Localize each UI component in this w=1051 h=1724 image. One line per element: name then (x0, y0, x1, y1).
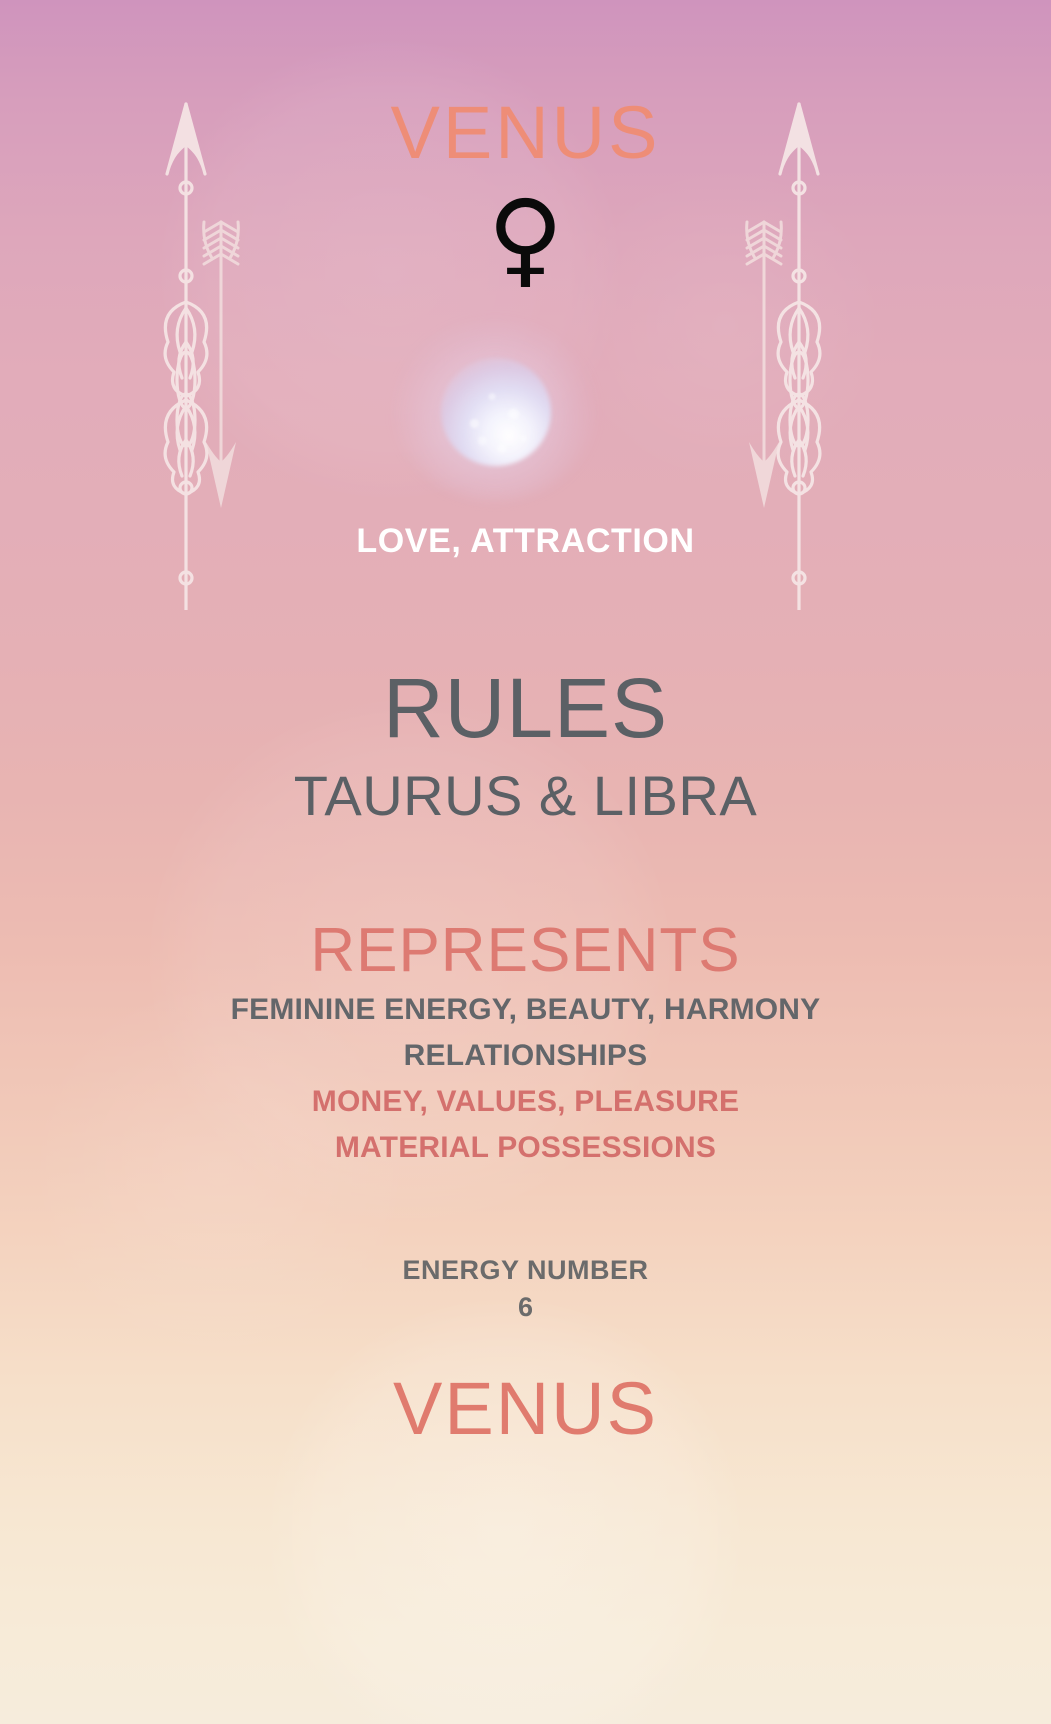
energy-number-value: 6 (0, 1294, 1051, 1321)
venus-symbol-icon: ♀ (0, 186, 1051, 290)
page-title: VENUS (0, 96, 1051, 170)
background-glow-circle (270, 1300, 740, 1724)
planet-surface-speckle (447, 364, 545, 460)
energy-number-label: ENERGY NUMBER (0, 1257, 1051, 1284)
venus-astrology-poster: VENUS ♀ LOVE, ATTRACTION RULES TAURUS & … (0, 0, 1051, 1724)
keywords-text: LOVE, ATTRACTION (0, 522, 1051, 561)
rules-heading: RULES (0, 666, 1051, 750)
represents-line: RELATIONSHIPS (0, 1041, 1051, 1071)
venus-planet-orb-image (425, 350, 565, 470)
represents-line: MONEY, VALUES, PLEASURE (0, 1087, 1051, 1117)
represents-heading: REPRESENTS (0, 920, 1051, 982)
represents-line: MATERIAL POSSESSIONS (0, 1133, 1051, 1163)
footer-title: VENUS (0, 1372, 1051, 1446)
rules-signs-text: TAURUS & LIBRA (0, 768, 1051, 824)
represents-line: FEMININE ENERGY, BEAUTY, HARMONY (0, 995, 1051, 1025)
